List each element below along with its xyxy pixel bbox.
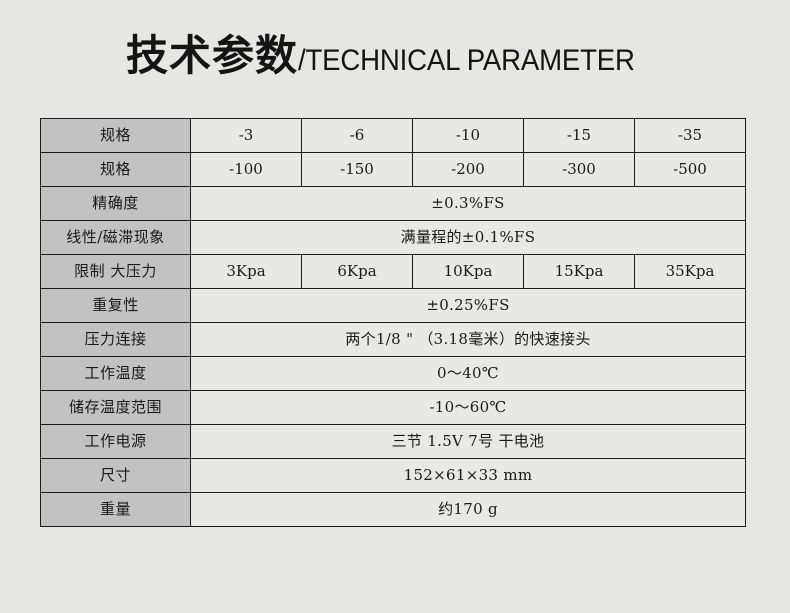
row-label: 重量 bbox=[41, 493, 191, 527]
row-value-cell: -150 bbox=[302, 153, 413, 187]
row-value-cell: -300 bbox=[524, 153, 635, 187]
row-value-cell: -6 bbox=[302, 119, 413, 153]
row-label: 重复性 bbox=[41, 289, 191, 323]
row-label: 规格 bbox=[41, 119, 191, 153]
page-title-english: /TECHNICAL PARAMETER bbox=[298, 44, 635, 78]
row-value-merged: ±0.3%FS bbox=[191, 187, 746, 221]
row-label: 线性/磁滞现象 bbox=[41, 221, 191, 255]
page-title: 技术参数/TECHNICAL PARAMETER bbox=[0, 22, 790, 83]
table-row: 精确度±0.3%FS bbox=[41, 187, 746, 221]
row-value-cell: 3Kpa bbox=[191, 255, 302, 289]
row-value-cell: 10Kpa bbox=[413, 255, 524, 289]
table-row: 规格-3-6-10-15-35 bbox=[41, 119, 746, 153]
row-value-cell: -15 bbox=[524, 119, 635, 153]
row-value-merged: 约170 g bbox=[191, 493, 746, 527]
table-row: 工作温度0～40℃ bbox=[41, 357, 746, 391]
row-value-merged: 满量程的±0.1%FS bbox=[191, 221, 746, 255]
row-label: 工作电源 bbox=[41, 425, 191, 459]
specification-table: 规格-3-6-10-15-35规格-100-150-200-300-500精确度… bbox=[40, 118, 746, 527]
row-label: 尺寸 bbox=[41, 459, 191, 493]
table-row: 线性/磁滞现象满量程的±0.1%FS bbox=[41, 221, 746, 255]
row-label: 规格 bbox=[41, 153, 191, 187]
row-label: 工作温度 bbox=[41, 357, 191, 391]
row-label: 精确度 bbox=[41, 187, 191, 221]
row-value-cell: -500 bbox=[635, 153, 746, 187]
row-value-merged: 152×61×33 mm bbox=[191, 459, 746, 493]
table-row: 规格-100-150-200-300-500 bbox=[41, 153, 746, 187]
row-value-cell: 15Kpa bbox=[524, 255, 635, 289]
row-label: 限制 大压力 bbox=[41, 255, 191, 289]
row-label: 压力连接 bbox=[41, 323, 191, 357]
row-value-cell: -200 bbox=[413, 153, 524, 187]
row-value-merged: 0～40℃ bbox=[191, 357, 746, 391]
row-value-merged: ±0.25%FS bbox=[191, 289, 746, 323]
row-value-merged: 三节 1.5V 7号 干电池 bbox=[191, 425, 746, 459]
page-title-chinese: 技术参数 bbox=[126, 31, 298, 80]
row-label: 储存温度范围 bbox=[41, 391, 191, 425]
specification-table-body: 规格-3-6-10-15-35规格-100-150-200-300-500精确度… bbox=[41, 119, 746, 527]
table-row: 尺寸152×61×33 mm bbox=[41, 459, 746, 493]
row-value-cell: 6Kpa bbox=[302, 255, 413, 289]
row-value-cell: 35Kpa bbox=[635, 255, 746, 289]
technical-parameter-page: 技术参数/TECHNICAL PARAMETER 规格-3-6-10-15-35… bbox=[0, 0, 790, 613]
row-value-merged: -10～60℃ bbox=[191, 391, 746, 425]
table-row: 限制 大压力3Kpa6Kpa10Kpa15Kpa35Kpa bbox=[41, 255, 746, 289]
row-value-cell: -10 bbox=[413, 119, 524, 153]
row-value-cell: -3 bbox=[191, 119, 302, 153]
row-value-cell: -100 bbox=[191, 153, 302, 187]
row-value-merged: 两个1/8 " （3.18毫米）的快速接头 bbox=[191, 323, 746, 357]
table-row: 重量约170 g bbox=[41, 493, 746, 527]
row-value-cell: -35 bbox=[635, 119, 746, 153]
table-row: 压力连接两个1/8 " （3.18毫米）的快速接头 bbox=[41, 323, 746, 357]
table-row: 储存温度范围-10～60℃ bbox=[41, 391, 746, 425]
table-row: 工作电源三节 1.5V 7号 干电池 bbox=[41, 425, 746, 459]
table-row: 重复性±0.25%FS bbox=[41, 289, 746, 323]
